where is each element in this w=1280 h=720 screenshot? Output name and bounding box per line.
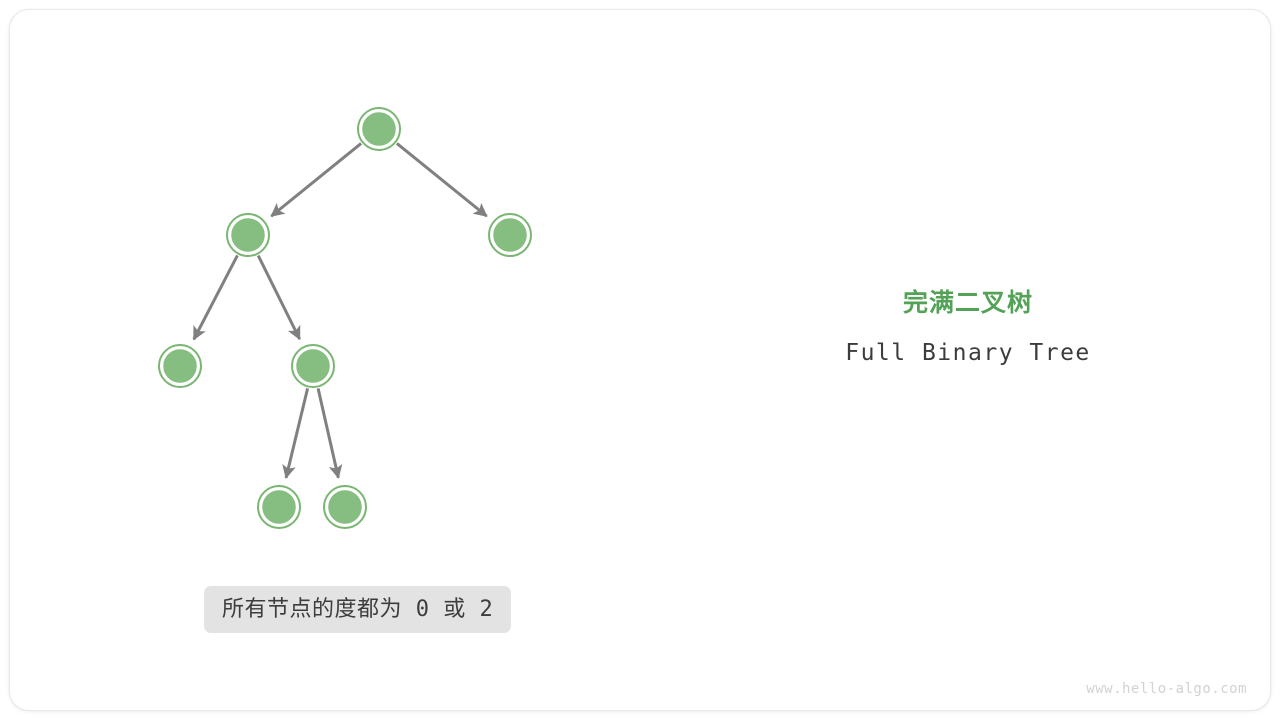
tree-node bbox=[292, 345, 334, 387]
tree-edge-layer bbox=[194, 143, 487, 477]
binary-tree-diagram bbox=[0, 0, 1280, 720]
figure-caption: 所有节点的度都为 0 或 2 bbox=[204, 586, 511, 633]
tree-edge bbox=[286, 388, 308, 477]
tree-node bbox=[258, 486, 300, 528]
tree-node-layer bbox=[159, 108, 531, 528]
tree-node bbox=[324, 486, 366, 528]
site-watermark: www.hello-algo.com bbox=[1086, 681, 1247, 697]
tree-edge bbox=[258, 256, 299, 340]
tree-node bbox=[358, 108, 400, 150]
tree-node-circle bbox=[493, 218, 528, 253]
tree-node-circle bbox=[231, 218, 266, 253]
tree-node bbox=[159, 345, 201, 387]
tree-node-circle bbox=[296, 349, 331, 384]
tree-node bbox=[489, 214, 531, 256]
tree-node bbox=[227, 214, 269, 256]
tree-edge bbox=[194, 255, 238, 339]
tree-node-circle bbox=[163, 349, 198, 384]
figure-canvas: 完满二叉树 Full Binary Tree 所有节点的度都为 0 或 2 ww… bbox=[0, 0, 1280, 720]
tree-node-circle bbox=[362, 112, 397, 147]
tree-node-circle bbox=[262, 490, 297, 525]
tree-node-circle bbox=[328, 490, 363, 525]
tree-edge bbox=[271, 143, 361, 216]
tree-edge bbox=[318, 388, 338, 477]
tree-edge bbox=[397, 143, 487, 216]
